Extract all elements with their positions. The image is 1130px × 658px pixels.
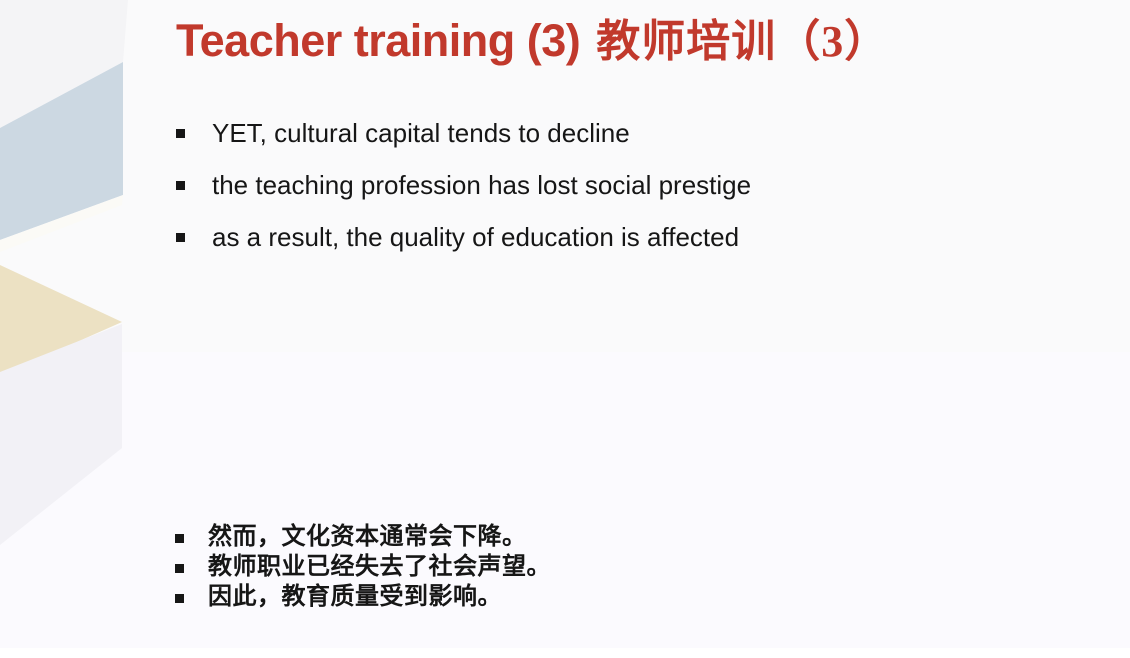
list-item: 因此，教育质量受到影响。 bbox=[175, 584, 975, 614]
square-bullet-icon bbox=[176, 129, 185, 138]
list-item: the teaching profession has lost social … bbox=[176, 170, 976, 222]
blue-parallelogram-shape bbox=[0, 62, 123, 240]
top-white-wedge-shape bbox=[0, 0, 128, 128]
list-item: YET, cultural capital tends to decline bbox=[176, 118, 976, 170]
blue-cream-separator-shape bbox=[0, 195, 123, 252]
bullet-text: the teaching profession has lost social … bbox=[212, 170, 751, 200]
bullet-text: 因此，教育质量受到影响。 bbox=[208, 584, 502, 611]
square-bullet-icon bbox=[176, 233, 185, 242]
square-bullet-icon bbox=[176, 181, 185, 190]
list-item: 教师职业已经失去了社会声望。 bbox=[175, 554, 975, 584]
list-item: 然而，文化资本通常会下降。 bbox=[175, 524, 975, 554]
slide-title-chinese: 教师培训（3） bbox=[596, 17, 889, 66]
english-bullet-list: YET, cultural capital tends to decline t… bbox=[176, 118, 976, 274]
left-polygon-decoration bbox=[0, 0, 200, 658]
list-item: as a result, the quality of education is… bbox=[176, 222, 976, 274]
background-band-bottom bbox=[0, 648, 1130, 658]
cream-triangle-shape bbox=[0, 265, 122, 376]
chinese-bullet-list: 然而，文化资本通常会下降。 教师职业已经失去了社会声望。 因此，教育质量受到影响… bbox=[175, 524, 975, 614]
slide-title-english: Teacher training (3) bbox=[176, 15, 580, 66]
bullet-text: 教师职业已经失去了社会声望。 bbox=[208, 554, 551, 581]
lower-grey-wedge-shape bbox=[0, 324, 122, 545]
square-bullet-icon bbox=[175, 564, 184, 573]
bullet-text: YET, cultural capital tends to decline bbox=[212, 118, 630, 148]
bullet-text: 然而，文化资本通常会下降。 bbox=[208, 524, 527, 551]
slide-canvas: Teacher training (3)教师培训（3） YET, cultura… bbox=[0, 0, 1130, 658]
bullet-text: as a result, the quality of education is… bbox=[212, 222, 739, 252]
slide-title: Teacher training (3)教师培训（3） bbox=[176, 18, 889, 64]
square-bullet-icon bbox=[175, 534, 184, 543]
square-bullet-icon bbox=[175, 594, 184, 603]
